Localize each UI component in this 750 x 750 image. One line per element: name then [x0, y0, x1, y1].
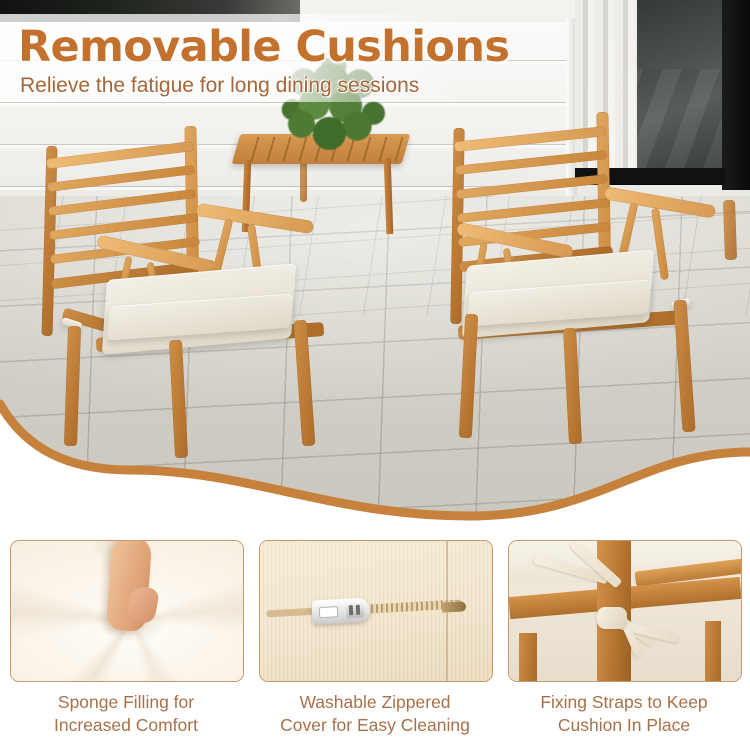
feature-card-washable-cover: Washable Zippered Cover for Easy Cleanin… [259, 540, 491, 750]
feature-caption-fixing-straps: Fixing Straps to Keep Cushion In Place [508, 691, 740, 738]
wave-divider-line [0, 404, 750, 516]
zipper-pull-tab [346, 602, 365, 619]
chair2-far-post [723, 200, 737, 260]
thumbnail-strap-tied-to-frame [508, 540, 742, 682]
promo-graphic: Removable Cushions Relieve the fatigue f… [0, 0, 750, 750]
thumbnail-zipper [259, 540, 493, 682]
feature-panels: Sponge Filling for Increased Comfort Was… [0, 540, 750, 750]
feature-caption-washable-cover: Washable Zippered Cover for Easy Cleanin… [259, 691, 491, 738]
chair-leg-right [705, 621, 721, 681]
caption-line-1: Fixing Straps to Keep [508, 691, 740, 714]
feature-card-fixing-straps: Fixing Straps to Keep Cushion In Place [508, 540, 740, 750]
caption-line-1: Sponge Filling for [10, 691, 242, 714]
caption-line-2: Increased Comfort [10, 714, 242, 737]
feature-caption-sponge-filling: Sponge Filling for Increased Comfort [10, 691, 242, 738]
caption-line-2: Cover for Easy Cleaning [259, 714, 491, 737]
thumbnail-hand-pressing-cushion [10, 540, 244, 682]
chair-leg-left [519, 633, 537, 681]
page-subtitle: Relieve the fatigue for long dining sess… [20, 74, 720, 98]
page-title: Removable Cushions [18, 22, 718, 72]
strap-knot [597, 607, 627, 629]
wave-divider [0, 398, 750, 533]
door-right-post [722, 0, 750, 190]
caption-line-2: Cushion In Place [508, 714, 740, 737]
feature-card-sponge-filling: Sponge Filling for Increased Comfort [10, 540, 242, 750]
zipper-end-stop [442, 601, 467, 612]
caption-line-1: Washable Zippered [259, 691, 491, 714]
